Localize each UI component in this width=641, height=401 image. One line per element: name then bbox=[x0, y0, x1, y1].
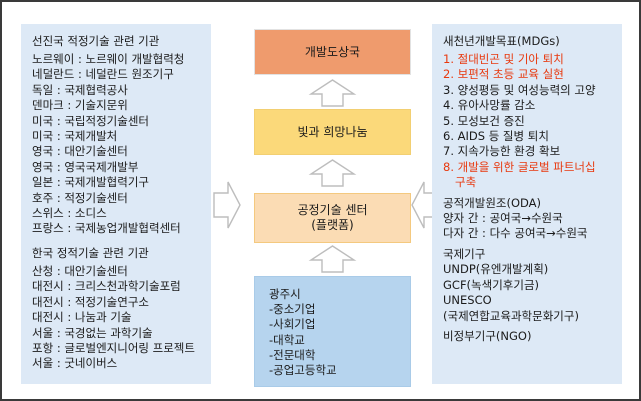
list-item: 1. 절대빈곤 및 기아 퇴치 bbox=[443, 52, 612, 67]
list-item: 스위스 : 소디스 bbox=[32, 206, 201, 221]
list-item: 덴마크 : 기술지문위 bbox=[32, 98, 201, 113]
list-item: 8. 개발을 위한 글로벌 파트너십 bbox=[443, 160, 612, 175]
developing-countries-label: 개발도상국 bbox=[305, 45, 360, 60]
list-item: 미국 : 국제개발처 bbox=[32, 129, 201, 144]
section-spacer bbox=[32, 237, 201, 245]
list-item: -전문대학 bbox=[269, 348, 410, 363]
arrow-up-icon bbox=[308, 158, 357, 188]
list-item: 미국 : 국립적정기술센터 bbox=[32, 114, 201, 129]
gwangju-city-box: 광주시 -중소기업 -사회기업 -대학교 -전문대학 -공업고등학교 bbox=[254, 276, 411, 387]
list-item: 다자 간 : 다수 공여국→수원국 bbox=[443, 226, 612, 241]
list-item: 5. 모성보건 증진 bbox=[443, 114, 612, 129]
list-item: 네덜란드 : 네덜란드 원조기구 bbox=[32, 67, 201, 82]
list-item: 일본 : 국제개발협력기구 bbox=[32, 175, 201, 190]
list-item: -중소기업 bbox=[269, 302, 410, 317]
list-item: (국제연합교육과학문화기구) bbox=[443, 309, 612, 324]
list-item: UNESCO bbox=[443, 293, 612, 308]
list-item-continuation: 구축 bbox=[443, 175, 612, 190]
list-item: 프랑스 : 국제농업개발협력센터 bbox=[32, 221, 201, 236]
arrow-right-icon bbox=[212, 179, 242, 231]
list-item: -공업고등학교 bbox=[269, 363, 410, 378]
list-item: 2. 보편적 초등 교육 실현 bbox=[443, 67, 612, 82]
gwangju-city-heading: 광주시 bbox=[269, 287, 410, 302]
right-goals-panel: 새천년개발목표(MDGs) 1. 절대빈곤 및 기아 퇴치 2. 보편적 초등 … bbox=[432, 24, 622, 384]
list-item: 산청 : 대안기술센터 bbox=[32, 264, 201, 279]
list-item: 영국 : 대안기술센터 bbox=[32, 144, 201, 159]
list-item: 서울 : 굿네이버스 bbox=[32, 356, 201, 371]
fair-technology-center-box: 공정기술 센터 (플랫폼) bbox=[254, 193, 411, 243]
list-item: 6. AIDS 등 질병 퇴치 bbox=[443, 129, 612, 144]
mdgs-list: 1. 절대빈곤 및 기아 퇴치 2. 보편적 초등 교육 실현 3. 양성평등 … bbox=[443, 52, 612, 191]
list-item: 호주 : 적정기술센터 bbox=[32, 191, 201, 206]
korea-institutions-list: 산청 : 대안기술센터 대전시 : 크리스천과학기술포럼 대전시 : 적정기술연… bbox=[32, 264, 201, 372]
advanced-countries-list: 노르웨이 : 노르웨이 개발협력청 네덜란드 : 네덜란드 원조기구 독일 : … bbox=[32, 52, 201, 237]
list-item: 대전시 : 적정기술연구소 bbox=[32, 295, 201, 310]
arrow-up-icon bbox=[308, 78, 357, 108]
light-and-hope-sharing-label: 빛과 희망나눔 bbox=[297, 125, 367, 140]
korea-institutions-heading: 한국 정적기술 관련 기관 bbox=[32, 245, 201, 261]
list-item: 대전시 : 크리스천과학기술포럼 bbox=[32, 279, 201, 294]
ngo-label: 비정부기구(NGO) bbox=[443, 329, 612, 344]
list-item: -대학교 bbox=[269, 333, 410, 348]
left-institutions-panel: 선진국 적정기술 관련 기관 노르웨이 : 노르웨이 개발협력청 네덜란드 : … bbox=[21, 24, 211, 384]
diagram-canvas: 선진국 적정기술 관련 기관 노르웨이 : 노르웨이 개발협력청 네덜란드 : … bbox=[0, 0, 641, 401]
advanced-countries-heading: 선진국 적정기술 관련 기관 bbox=[32, 33, 201, 49]
list-item: 양자 간 : 공여국→수원국 bbox=[443, 211, 612, 226]
light-and-hope-sharing-box: 빛과 희망나눔 bbox=[254, 109, 411, 155]
fair-technology-center-subtitle: (플랫폼) bbox=[311, 218, 353, 233]
intl-orgs-heading: 국제기구 bbox=[443, 247, 612, 262]
list-item: GCF(녹색기후기금) bbox=[443, 278, 612, 293]
fair-technology-center-title: 공정기술 센터 bbox=[297, 203, 367, 218]
arrow-up-icon bbox=[308, 244, 357, 274]
list-item: 7. 지속가능한 환경 확보 bbox=[443, 144, 612, 159]
list-item: 영국 : 영국국제개발부 bbox=[32, 160, 201, 175]
mdgs-heading: 새천년개발목표(MDGs) bbox=[443, 33, 612, 49]
list-item: 포항 : 글로벌엔지니어링 프로젝트 bbox=[32, 341, 201, 356]
list-item: 노르웨이 : 노르웨이 개발협력청 bbox=[32, 52, 201, 67]
list-item: UNDP(유엔개발계획) bbox=[443, 262, 612, 277]
list-item: 4. 유아사망률 감소 bbox=[443, 98, 612, 113]
list-item: 3. 양성평등 및 여성능력의 고양 bbox=[443, 83, 612, 98]
list-item: -사회기업 bbox=[269, 317, 410, 332]
list-item: 독일 : 국제협력공사 bbox=[32, 83, 201, 98]
list-item: 서울 : 국경없는 과학기술 bbox=[32, 326, 201, 341]
oda-heading: 공적개발원조(ODA) bbox=[443, 196, 612, 211]
list-item: 대전시 : 나눔과 기술 bbox=[32, 310, 201, 325]
developing-countries-box: 개발도상국 bbox=[254, 29, 411, 75]
